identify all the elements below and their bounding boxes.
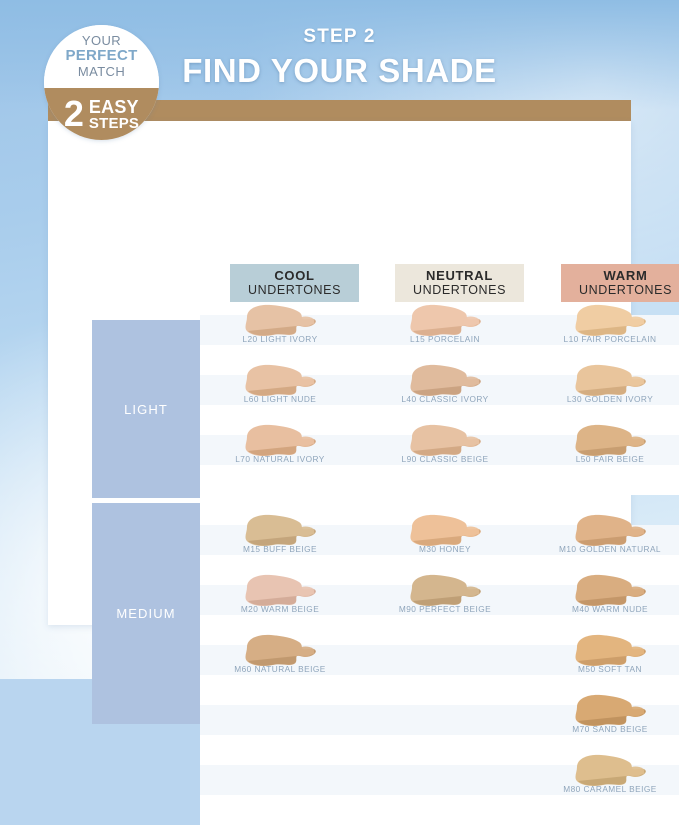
shade-cell[interactable]: L90 CLASSIC BEIGE	[365, 435, 525, 465]
shade-label: L20 LIGHT IVORY	[200, 334, 360, 344]
grid-band: M15 BUFF BEIGEM30 HONEYM10 GOLDEN NATURA…	[200, 525, 679, 555]
shade-cell[interactable]: L60 LIGHT NUDE	[200, 375, 360, 405]
column-header-cool-subtitle: UNDERTONES	[248, 283, 341, 297]
badge-step-number: 2	[64, 98, 84, 130]
shade-label: M30 HONEY	[365, 544, 525, 554]
badge-top-text: YOUR PERFECT MATCH	[44, 25, 159, 88]
badge-line-2: PERFECT	[65, 48, 137, 64]
shade-label: M70 SAND BEIGE	[530, 724, 679, 734]
badge-step-words: EASY STEPS	[89, 98, 139, 131]
shade-label: M90 PERFECT BEIGE	[365, 604, 525, 614]
grid-band: M80 CARAMEL BEIGE	[200, 765, 679, 795]
shade-label: M15 BUFF BEIGE	[200, 544, 360, 554]
shade-label: L90 CLASSIC BEIGE	[365, 454, 525, 464]
shade-cell[interactable]: L40 CLASSIC IVORY	[365, 375, 525, 405]
shade-label: L30 GOLDEN IVORY	[530, 394, 679, 404]
shade-label: M20 WARM BEIGE	[200, 604, 360, 614]
shade-cell[interactable]: M50 SOFT TAN	[530, 645, 679, 675]
badge-line-1: YOUR	[82, 34, 121, 48]
grid-band: M70 SAND BEIGE	[200, 705, 679, 735]
shade-label: M60 NATURAL BEIGE	[200, 664, 360, 674]
grid-band: L60 LIGHT NUDEL40 CLASSIC IVORYL30 GOLDE…	[200, 375, 679, 405]
shade-cell[interactable]: M30 HONEY	[365, 525, 525, 555]
shade-label: M40 WARM NUDE	[530, 604, 679, 614]
badge-line-3: MATCH	[78, 65, 125, 79]
column-header-neutral-subtitle: UNDERTONES	[413, 283, 506, 297]
shade-label: L15 PORCELAIN	[365, 334, 525, 344]
column-header-cool: COOL UNDERTONES	[230, 264, 359, 302]
column-header-neutral-title: NEUTRAL	[426, 269, 493, 284]
column-header-warm: WARM UNDERTONES	[561, 264, 679, 302]
shade-label: M50 SOFT TAN	[530, 664, 679, 674]
shade-cell[interactable]: L50 FAIR BEIGE	[530, 435, 679, 465]
shade-cell[interactable]: M70 SAND BEIGE	[530, 705, 679, 735]
row-header-light: LIGHT	[92, 320, 200, 498]
grid-band: M60 NATURAL BEIGEM50 SOFT TAN	[200, 645, 679, 675]
row-header-medium: MEDIUM	[92, 503, 200, 724]
grid-band: M20 WARM BEIGEM90 PERFECT BEIGEM40 WARM …	[200, 585, 679, 615]
grid-band: L20 LIGHT IVORYL15 PORCELAINL10 FAIR POR…	[200, 315, 679, 345]
shade-label: M80 CARAMEL BEIGE	[530, 784, 679, 794]
shade-cell[interactable]: M90 PERFECT BEIGE	[365, 585, 525, 615]
shade-cell[interactable]: L20 LIGHT IVORY	[200, 315, 360, 345]
shade-cell[interactable]: L30 GOLDEN IVORY	[530, 375, 679, 405]
column-header-warm-subtitle: UNDERTONES	[579, 283, 672, 297]
shade-cell[interactable]: M60 NATURAL BEIGE	[200, 645, 360, 675]
grid-band	[200, 465, 679, 495]
shade-label: L40 CLASSIC IVORY	[365, 394, 525, 404]
column-header-warm-title: WARM	[604, 269, 648, 284]
badge-word-steps: STEPS	[89, 116, 139, 131]
shade-cell[interactable]: M15 BUFF BEIGE	[200, 525, 360, 555]
shade-cell[interactable]: L70 NATURAL IVORY	[200, 435, 360, 465]
shade-label: L50 FAIR BEIGE	[530, 454, 679, 464]
shade-label: L10 FAIR PORCELAIN	[530, 334, 679, 344]
grid-band	[200, 795, 679, 825]
shade-cell[interactable]: M40 WARM NUDE	[530, 585, 679, 615]
column-header-cool-title: COOL	[274, 269, 314, 284]
shade-cell[interactable]: L10 FAIR PORCELAIN	[530, 315, 679, 345]
column-header-neutral: NEUTRAL UNDERTONES	[395, 264, 524, 302]
shade-label: L60 LIGHT NUDE	[200, 394, 360, 404]
shade-grid: L20 LIGHT IVORYL15 PORCELAINL10 FAIR POR…	[200, 315, 679, 825]
shade-cell[interactable]: M20 WARM BEIGE	[200, 585, 360, 615]
shade-chart-card: COOL UNDERTONES NEUTRAL UNDERTONES WARM …	[48, 121, 631, 625]
shade-label: L70 NATURAL IVORY	[200, 454, 360, 464]
shade-label: M10 GOLDEN NATURAL	[530, 544, 679, 554]
shade-cell[interactable]: L15 PORCELAIN	[365, 315, 525, 345]
badge-bottom-text: 2 EASY STEPS	[44, 88, 159, 140]
shade-cell[interactable]: M80 CARAMEL BEIGE	[530, 765, 679, 795]
shade-cell[interactable]: M10 GOLDEN NATURAL	[530, 525, 679, 555]
perfect-match-badge: YOUR PERFECT MATCH 2 EASY STEPS	[44, 25, 159, 140]
grid-band: L70 NATURAL IVORYL90 CLASSIC BEIGEL50 FA…	[200, 435, 679, 465]
badge-word-easy: EASY	[89, 98, 139, 116]
